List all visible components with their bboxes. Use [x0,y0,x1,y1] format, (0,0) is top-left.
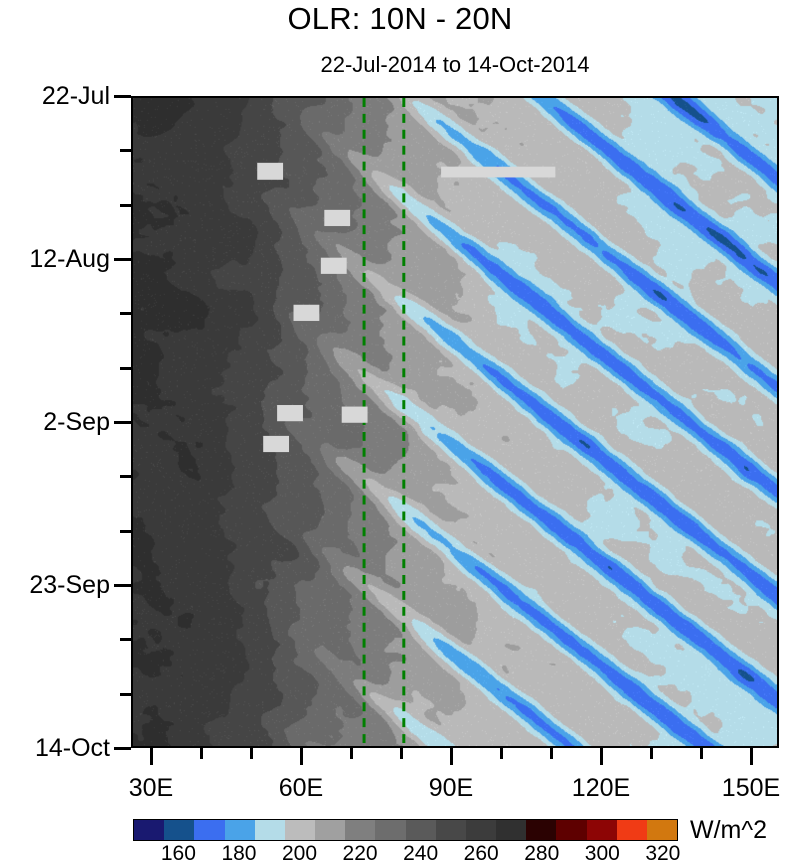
y-tick-major [114,584,131,587]
y-axis-tick-label: 22-Jul [42,84,110,109]
colorbar-tick-label: 200 [270,843,330,864]
y-tick-minor [120,638,131,641]
masked-data-box [277,405,303,421]
x-tick-major [600,748,603,765]
colorbar-swatch [436,820,466,840]
olr-hovmoller-figure: OLR: 10N - 20N 22-Jul-2014 to 14-Oct-201… [0,0,800,863]
y-tick-minor [120,475,131,478]
x-axis-tick-label: 90E [391,776,511,801]
x-tick-minor [550,748,553,759]
y-tick-major [114,421,131,424]
masked-data-box [321,258,347,274]
x-tick-minor [650,748,653,759]
colorbar-swatch [617,820,647,840]
masked-data-box [294,305,320,321]
y-tick-minor [120,149,131,152]
y-tick-minor [120,312,131,315]
colorbar-tick-label: 280 [512,843,572,864]
x-tick-minor [350,748,353,759]
y-axis-tick-label: 2-Sep [43,410,110,435]
colorbar-swatch [194,820,224,840]
reference-lines-group [364,98,404,746]
x-tick-minor [200,748,203,759]
overlay-layer [133,98,777,746]
colorbar-swatch [134,820,164,840]
x-tick-major [750,748,753,765]
colorbar-swatch [496,820,526,840]
x-tick-major [150,748,153,765]
masked-data-box [263,436,289,452]
colorbar-swatch [255,820,285,840]
chart-title: OLR: 10N - 20N [0,2,800,36]
x-tick-minor [500,748,503,759]
y-axis-tick-label: 12-Aug [29,247,110,272]
colorbar-swatch [587,820,617,840]
colorbar-swatch [556,820,586,840]
colorbar-tick-label: 320 [633,843,693,864]
masked-data-box [342,407,368,423]
colorbar [133,819,678,841]
colorbar-swatch [406,820,436,840]
y-tick-minor [120,367,131,370]
colorbar-swatch [285,820,315,840]
colorbar-tick-label: 240 [391,843,451,864]
x-tick-major [300,748,303,765]
colorbar-swatch [647,820,677,840]
x-axis-tick-label: 30E [91,776,211,801]
x-tick-minor [700,748,703,759]
masked-data-box [441,167,555,178]
masked-boxes-group [257,163,555,452]
colorbar-swatch [466,820,496,840]
colorbar-tick-label: 220 [330,843,390,864]
y-axis-tick-label: 14-Oct [35,736,110,761]
masked-data-box [324,210,350,226]
y-tick-minor [120,530,131,533]
colorbar-tick-label: 160 [148,843,208,864]
chart-subtitle: 22-Jul-2014 to 14-Oct-2014 [130,52,780,78]
y-axis-tick-label: 23-Sep [29,573,110,598]
y-tick-major [114,747,131,750]
y-tick-major [114,95,131,98]
x-tick-major [450,748,453,765]
colorbar-units-label: W/m^2 [690,818,767,843]
masked-data-box [257,163,283,180]
x-tick-minor [250,748,253,759]
colorbar-tick-label: 260 [451,843,511,864]
colorbar-swatch [225,820,255,840]
colorbar-tick-label: 300 [572,843,632,864]
x-axis-tick-label: 60E [241,776,361,801]
colorbar-swatch [315,820,345,840]
x-axis-tick-label: 120E [541,776,661,801]
x-tick-minor [400,748,403,759]
colorbar-swatch [164,820,194,840]
y-tick-minor [120,693,131,696]
colorbar-swatch [526,820,556,840]
colorbar-swatch [375,820,405,840]
colorbar-tick-label: 180 [209,843,269,864]
y-tick-minor [120,204,131,207]
plot-area [131,96,779,748]
colorbar-swatch [345,820,375,840]
x-axis-tick-label: 150E [691,776,800,801]
y-tick-major [114,258,131,261]
